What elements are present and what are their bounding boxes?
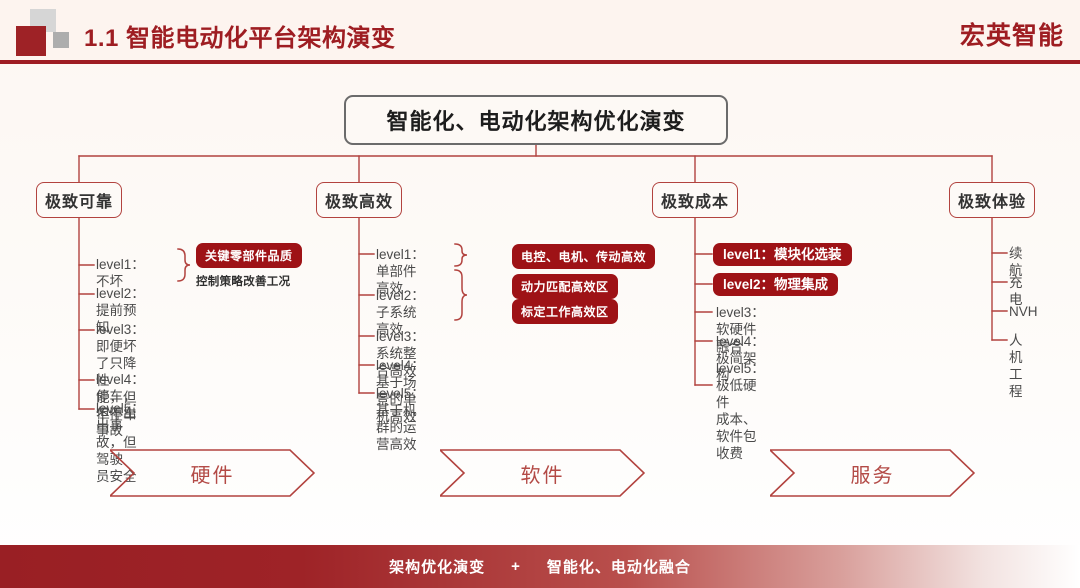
decorative-square-dark bbox=[16, 26, 46, 56]
footer-content: 架构优化演变 + 智能化、电动化融合 bbox=[0, 545, 1080, 588]
decorative-square-mid bbox=[53, 32, 69, 48]
badge-calibration-zone[interactable]: 标定工作高效区 bbox=[512, 299, 618, 324]
list-item[interactable]: level5：极低硬件 成本、软件包收费 bbox=[716, 360, 765, 462]
slide-header: 1.1 智能电动化平台架构演变 宏英智能 bbox=[0, 0, 1080, 62]
chevron-label: 软件 bbox=[440, 449, 645, 497]
badge-key-component-quality[interactable]: 关键零部件品质 bbox=[196, 243, 302, 268]
list-item-highlighted[interactable]: level1：模块化选装 bbox=[713, 243, 852, 266]
list-item[interactable]: 人机工程 bbox=[1009, 332, 1023, 400]
slide-footer: 架构优化演变 + 智能化、电动化融合 bbox=[0, 545, 1080, 588]
note-control-strategy: 控制策略改善工况 bbox=[196, 273, 290, 289]
list-item[interactable]: level5：基于机群的运营高效 bbox=[376, 385, 425, 453]
chevron-hardware[interactable]: 硬件 bbox=[110, 449, 315, 497]
category-box-reliability[interactable]: 极致可靠 bbox=[36, 182, 122, 218]
badge-power-match-zone[interactable]: 动力匹配高效区 bbox=[512, 274, 618, 299]
slide-canvas: 1.1 智能电动化平台架构演变 宏英智能 bbox=[0, 0, 1080, 588]
category-box-experience[interactable]: 极致体验 bbox=[949, 182, 1035, 218]
chevron-label: 服务 bbox=[770, 449, 975, 497]
page-title: 1.1 智能电动化平台架构演变 bbox=[84, 18, 396, 53]
brand-logo: 宏英智能 bbox=[960, 16, 1064, 52]
footer-left-text: 架构优化演变 bbox=[389, 556, 485, 577]
root-node[interactable]: 智能化、电动化架构优化演变 bbox=[344, 95, 728, 145]
footer-right-text: 智能化、电动化融合 bbox=[547, 556, 691, 577]
footer-plus-sign: + bbox=[511, 558, 521, 575]
chevron-label: 硬件 bbox=[110, 449, 315, 497]
chevron-service[interactable]: 服务 bbox=[770, 449, 975, 497]
list-item-highlighted[interactable]: level2：物理集成 bbox=[713, 273, 838, 296]
header-divider bbox=[0, 60, 1080, 64]
list-item[interactable]: NVH bbox=[1009, 303, 1038, 320]
category-box-cost[interactable]: 极致成本 bbox=[652, 182, 738, 218]
chevron-software[interactable]: 软件 bbox=[440, 449, 645, 497]
badge-drive-efficiency[interactable]: 电控、电机、传动高效 bbox=[512, 244, 655, 269]
category-box-efficiency[interactable]: 极致高效 bbox=[316, 182, 402, 218]
